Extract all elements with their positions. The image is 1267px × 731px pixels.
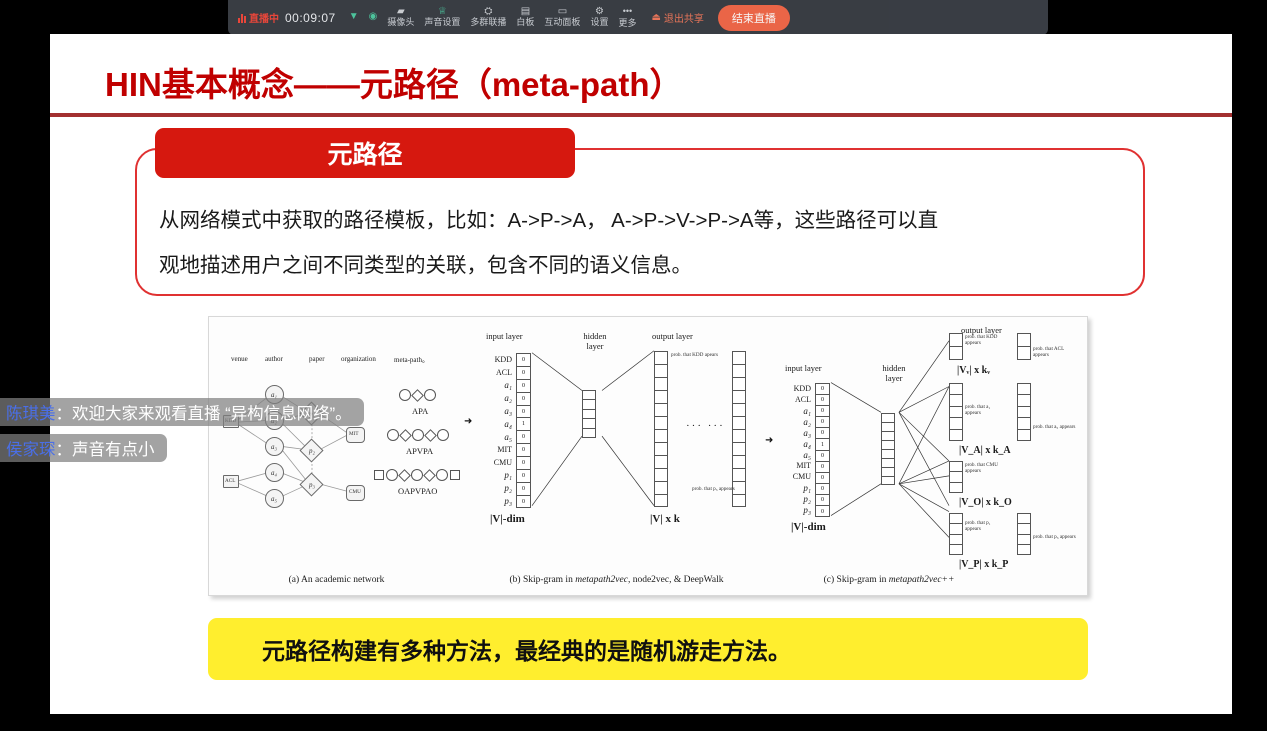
footer-highlight-text: 元路径构建有多种方法，最经典的是随机游走方法。 <box>262 632 791 666</box>
chat-message-2: 侯家琛：声音有点小 <box>0 434 167 462</box>
panel-b-row-label-active: a₄ <box>474 419 512 429</box>
panel-b-output-cell <box>655 365 667 378</box>
toolbar-item-whiteboard[interactable]: ▤ 白板 <box>511 6 539 28</box>
panel-c-input-cell: 0 <box>816 484 829 495</box>
panel-c-input-cell: 0 <box>816 417 829 428</box>
panel-b-caption-italic: metapath2vec <box>575 575 628 585</box>
panel-c-output-cell <box>1018 407 1030 418</box>
panel-a-metapath-oapvpao-label: OAPVPAO <box>398 486 437 496</box>
chat-separator: ： <box>56 436 73 460</box>
panel-c-dim-o: |V_O| x k_O <box>959 497 1012 508</box>
panel-b-hidden-vector <box>582 390 596 438</box>
panel-c-output-cell <box>1018 384 1030 395</box>
wifi-icon: ▼ <box>349 12 359 22</box>
panel-c-prob-p-right: prob. that p₃ appears <box>1033 535 1081 541</box>
panel-b-input-cell: 0 <box>517 393 530 406</box>
panel-b-input-cell: 0 <box>517 457 530 470</box>
panel-b-hidden-cell <box>583 429 595 438</box>
screen-root: 直播中 00:09:07 ▼ ◉ ▰ 摄像头 ♕ 声音设置 ⛭ 多群联播 ▤ 白… <box>0 0 1267 731</box>
panel-c-input-cell: 0 <box>816 406 829 417</box>
toolbar-item-shield[interactable]: ◉ <box>364 11 383 24</box>
panel-c-output-cell <box>1018 418 1030 429</box>
panel-c-caption: (c) Skip-gram in metapath2vec++ <box>729 575 1049 585</box>
panel-b-row-label: CMU <box>474 458 512 467</box>
panel-c-row-label: p₃ <box>773 505 811 515</box>
panel-b-row-label: p₁ <box>474 470 512 480</box>
panel-c-output-cell <box>1018 430 1030 441</box>
panel-c-output-cell <box>950 430 962 441</box>
figure-panel-a: venue author paper organization meta-pat… <box>209 317 464 595</box>
panel-b-hidden-cell <box>583 391 595 400</box>
panel-c-output-cell <box>950 334 962 347</box>
panel-c-row-label: ACL <box>773 395 811 404</box>
panel-c-input-vector: 0 0 0 0 0 1 0 0 0 0 0 0 <box>815 383 830 517</box>
panel-c-input-cell: 0 <box>816 451 829 462</box>
panel-c-row-label: p₁ <box>773 483 811 493</box>
panel-c-output-cell <box>950 545 962 555</box>
panel-c-dim-p: |V_P| x k_P <box>959 559 1008 570</box>
panel-b-output-cell <box>733 417 745 430</box>
panel-a-metapath-apa-label: APA <box>412 406 428 416</box>
panel-c-output-vector-a-right <box>1017 383 1031 441</box>
panel-b-row-label: p₃ <box>474 496 512 506</box>
panel-c-hidden-cell <box>882 432 894 441</box>
panel-c-output-cell <box>1018 545 1030 555</box>
figure-panel-b: input layer hidden layer output layer 0 … <box>464 317 769 595</box>
panel-c-row-label: a₃ <box>773 428 811 438</box>
chat-message-1: 陈琪美：欢迎大家来观看直播 “异构信息网络”。 <box>0 398 364 426</box>
toolbar-item-wifi[interactable]: ▼ <box>344 11 364 24</box>
toolbar-item-camera-label: 摄像头 <box>387 18 414 27</box>
chat-message-text: 欢迎大家来观看直播 “异构信息网络”。 <box>72 400 352 424</box>
panel-a-edges <box>209 317 464 595</box>
panel-b-output-cell <box>733 469 745 482</box>
panel-a-node-org-2-label: CMU <box>349 490 361 496</box>
panel-a-node-author-5-label: a₅ <box>271 495 277 503</box>
toolbar-item-multicast-label: 多群联播 <box>470 18 506 27</box>
panel-b-output-cell <box>655 430 667 443</box>
panel-c-row-label: a₁ <box>773 406 811 416</box>
definition-text: 从网络模式中获取的路径模板，比如：A->P->A， A->P->V->P->A等… <box>159 198 1134 288</box>
panel-b-input-cell-active: 1 <box>517 418 530 431</box>
toolbar-item-multicast[interactable]: ⛭ 多群联播 <box>465 6 511 28</box>
panel-b-output-cell <box>655 378 667 391</box>
metapath-shape-diamond <box>411 389 424 402</box>
toolbar-item-panel-label: 互动面板 <box>544 18 580 27</box>
panel-b-output-cell <box>733 443 745 456</box>
metapath-shape-diamond <box>399 429 412 442</box>
panel-c-caption-prefix: (c) Skip-gram in <box>824 575 889 585</box>
panel-b-input-cell: 0 <box>517 406 530 419</box>
panel-c-output-vector-v-right <box>1017 333 1031 360</box>
panel-b-output-cell <box>655 469 667 482</box>
chat-bubble: 侯家琛：声音有点小 <box>0 434 167 462</box>
panel-b-output-vector-1 <box>654 351 668 507</box>
panel-c-hidden-cell <box>882 468 894 477</box>
panel-c-dim-a: |V_A| x k_A <box>959 445 1011 456</box>
toolbar-item-settings[interactable]: ⚙ 设置 <box>585 6 613 28</box>
metapath-shape-diamond <box>423 469 436 482</box>
more-icon: ••• <box>623 6 632 16</box>
multicast-icon: ⛭ <box>484 7 492 17</box>
panel-c-prob-v-left: prob. that KDD appears <box>965 335 1013 347</box>
panel-c-output-cell <box>950 514 962 524</box>
panel-b-output-cell <box>655 404 667 417</box>
panel-b-output-cell <box>655 352 667 365</box>
metapath-shape-circle <box>436 469 448 481</box>
shield-icon: ◉ <box>369 12 378 22</box>
panel-c-caption-italic: metapath2vec++ <box>889 575 955 585</box>
panel-b-hidden-cell <box>583 419 595 428</box>
metapath-shape-circle <box>411 469 423 481</box>
live-timer: 00:09:07 <box>285 11 336 25</box>
panel-c-input-cell: 0 <box>816 473 829 484</box>
panel-b-prob-top-label: prob. that KDD apears <box>671 353 723 359</box>
metapath-shape-square <box>374 470 384 480</box>
panel-b-output-cell <box>655 391 667 404</box>
metapath-shape-circle <box>386 469 398 481</box>
panel-b-output-cell <box>655 417 667 430</box>
panel-b-input-cell: 0 <box>517 380 530 393</box>
panel-icon: ▭ <box>558 7 567 17</box>
panel-b-input-cell: 0 <box>517 354 530 367</box>
panel-c-output-cell <box>1018 347 1030 360</box>
panel-a-node-paper-3-label: p₃ <box>309 481 315 489</box>
gear-icon: ⚙ <box>595 7 604 17</box>
chat-sender-name: 陈琪美 <box>6 400 56 424</box>
panel-c-input-cell: 0 <box>816 395 829 406</box>
panel-b-input-dim-label: |V|-dim <box>490 513 525 525</box>
panel-c-prob-v-right: prob. that ACL appears <box>1033 347 1081 359</box>
section-badge: 元路径 <box>155 128 575 178</box>
panel-c-input-arrow-icon: ➜ <box>765 435 773 446</box>
panel-b-row-label: a₅ <box>474 432 512 442</box>
definition-line-2: 观地描述用户之间不同类型的关联，包含不同的语义信息。 <box>159 243 1134 288</box>
panel-c-input-cell: 0 <box>816 428 829 439</box>
figure-panel-c: input layer hidden layer output layer <box>769 317 1089 595</box>
panel-b-output-cell <box>733 404 745 417</box>
page-title: HIN基本概念——元路径（meta-path） <box>105 58 1105 106</box>
panel-c-row-label: p₂ <box>773 494 811 504</box>
panel-b-caption-prefix: (b) Skip-gram in <box>510 575 576 585</box>
panel-c-output-cell <box>950 407 962 418</box>
panel-c-row-label: CMU <box>773 472 811 481</box>
metapath-shape-circle <box>437 429 449 441</box>
footer-highlight-box: 元路径构建有多种方法，最经典的是随机游走方法。 <box>208 618 1088 680</box>
panel-c-output-vector-o <box>949 461 963 493</box>
metapath-shape-diamond <box>424 429 437 442</box>
panel-b-output-cell <box>655 456 667 469</box>
panel-c-output-cell <box>950 472 962 482</box>
panel-b-row-label: a₃ <box>474 406 512 416</box>
panel-c-input-cell: 0 <box>816 384 829 395</box>
toolbar-item-audio-label: 声音设置 <box>424 18 460 27</box>
panel-b-row-label: a₁ <box>474 380 512 390</box>
panel-b-input-vector: 0 0 0 0 0 1 0 0 0 0 0 0 <box>516 353 531 508</box>
live-status-indicator: 直播中 <box>238 10 279 25</box>
live-bars-icon <box>238 13 246 23</box>
panel-c-output-cell <box>950 535 962 545</box>
presentation-slide: HIN基本概念——元路径（meta-path） 从网络模式中获取的路径模板，比如… <box>50 34 1232 714</box>
whiteboard-icon: ▤ <box>521 7 530 17</box>
exit-share-icon: ⏏ <box>651 12 660 23</box>
panel-c-output-vector-p-left <box>949 513 963 555</box>
metapath-shape-circle <box>387 429 399 441</box>
panel-c-output-vector-v-left <box>949 333 963 360</box>
end-live-button[interactable]: 结束直播 <box>718 5 790 31</box>
panel-c-input-cell-active: 1 <box>816 439 829 450</box>
panel-b-ellipsis: ··· ··· <box>686 420 725 432</box>
panel-c-output-cell <box>950 483 962 493</box>
panel-c-prob-a-left: prob. that a₁ appears <box>965 405 1007 417</box>
panel-a-metapath-apa-shapes <box>399 389 436 401</box>
live-status-label: 直播中 <box>249 10 279 25</box>
panel-a-metapath-apvpa-label: APVPA <box>406 446 433 456</box>
panel-b-row-label: a₂ <box>474 393 512 403</box>
panel-b-output-cell <box>733 495 745 508</box>
panel-c-output-cell <box>950 395 962 406</box>
live-toolbar: 直播中 00:09:07 ▼ ◉ ▰ 摄像头 ♕ 声音设置 ⛭ 多群联播 ▤ 白… <box>228 0 1048 35</box>
toolbar-item-camera[interactable]: ▰ 摄像头 <box>382 6 419 28</box>
panel-c-output-cell <box>950 524 962 534</box>
panel-c-hidden-cell <box>882 441 894 450</box>
metapath2vec-figure: venue author paper organization meta-pat… <box>208 316 1088 596</box>
panel-b-caption: (b) Skip-gram in metapath2vec, node2vec,… <box>464 575 769 585</box>
toolbar-item-more[interactable]: ••• 更多 <box>613 5 641 30</box>
panel-b-input-cell: 0 <box>517 483 530 496</box>
exit-share-label: 退出共享 <box>664 10 704 25</box>
panel-c-output-cell <box>950 462 962 472</box>
panel-a-node-author-4-label: a₄ <box>271 469 277 477</box>
panel-b-output-cell <box>733 378 745 391</box>
panel-b-row-label: ACL <box>474 368 512 377</box>
panel-b-output-cell <box>655 482 667 495</box>
chat-sender-name: 侯家琛 <box>6 436 56 460</box>
panel-b-output-cell <box>655 495 667 508</box>
panel-c-output-cell <box>950 384 962 395</box>
panel-b-input-cell: 0 <box>517 470 530 483</box>
panel-c-output-cell <box>950 347 962 360</box>
panel-c-output-cell <box>1018 395 1030 406</box>
panel-b-output-cell <box>655 443 667 456</box>
toolbar-item-audio-settings[interactable]: ♕ 声音设置 <box>419 6 465 28</box>
title-divider <box>50 113 1232 117</box>
panel-c-prob-p-left: prob. that p₁ appears <box>965 521 1007 533</box>
panel-b-output-vector-2 <box>732 351 746 507</box>
panel-b-row-label: p₂ <box>474 483 512 493</box>
panel-b-input-cell: 0 <box>517 496 530 509</box>
panel-a-metapath-oapvpao-shapes <box>374 469 460 481</box>
toolbar-item-whiteboard-label: 白板 <box>516 18 534 27</box>
panel-c-dim-v: |Vᵥ| x kᵥ <box>957 365 990 376</box>
panel-c-output-cell <box>1018 514 1030 524</box>
metapath-shape-square <box>450 470 460 480</box>
panel-c-row-label: KDD <box>773 384 811 393</box>
panel-c-row-label-active: a₄ <box>773 439 811 449</box>
chat-separator: ： <box>56 400 73 424</box>
panel-c-hidden-cell <box>882 423 894 432</box>
panel-c-input-dim-label: |V|-dim <box>791 521 826 533</box>
panel-a-node-paper-2-label: p₂ <box>309 447 315 455</box>
panel-b-row-label: MIT <box>474 445 512 454</box>
panel-b-caption-suffix: , node2vec, & DeepWalk <box>628 575 724 585</box>
panel-b-output-dim-label: |V| x k <box>650 513 680 525</box>
metapath-shape-circle <box>424 389 436 401</box>
metapath-shape-circle <box>412 429 424 441</box>
definition-line-1: 从网络模式中获取的路径模板，比如：A->P->A， A->P->V->P->A等… <box>159 198 1134 243</box>
panel-a-caption: (a) An academic network <box>209 575 464 585</box>
panel-c-input-cell: 0 <box>816 506 829 517</box>
chat-message-text: 声音有点小 <box>72 436 155 460</box>
panel-b-input-cell: 0 <box>517 444 530 457</box>
panel-c-output-vector-p-right <box>1017 513 1031 555</box>
panel-b-hidden-cell <box>583 410 595 419</box>
panel-c-prob-a-right: prob. that a₅ appears <box>1033 425 1077 431</box>
panel-b-output-cell <box>733 430 745 443</box>
panel-b-output-cell <box>733 352 745 365</box>
panel-c-input-cell: 0 <box>816 462 829 473</box>
panel-a-node-author-3-label: a₃ <box>271 443 277 451</box>
panel-c-output-cell <box>1018 524 1030 534</box>
panel-b-output-cell <box>733 456 745 469</box>
panel-c-row-label: MIT <box>773 461 811 470</box>
panel-b-output-cell <box>733 365 745 378</box>
audio-icon: ♕ <box>438 7 447 17</box>
metapath-shape-circle <box>399 389 411 401</box>
panel-b-input-cell: 0 <box>517 431 530 444</box>
camera-icon: ▰ <box>397 7 405 17</box>
panel-c-hidden-cell <box>882 477 894 486</box>
panel-a-node-org-1-label: MIT <box>349 432 359 438</box>
exit-share-button[interactable]: ⏏ 退出共享 <box>645 8 709 27</box>
panel-c-prob-o-left: prob. that CMU appears <box>965 463 1013 475</box>
panel-c-input-cell: 0 <box>816 495 829 506</box>
panel-b-input-arrow-icon: ➜ <box>464 416 472 427</box>
panel-c-hidden-vector <box>881 413 895 485</box>
panel-c-hidden-cell <box>882 459 894 468</box>
panel-b-row-label: KDD <box>474 355 512 364</box>
panel-c-output-cell <box>950 418 962 429</box>
metapath-shape-diamond <box>398 469 411 482</box>
panel-c-output-cell <box>1018 535 1030 545</box>
panel-b-output-cell <box>733 391 745 404</box>
panel-c-output-vector-a-left <box>949 383 963 441</box>
panel-c-row-label: a₅ <box>773 450 811 460</box>
chat-bubble: 陈琪美：欢迎大家来观看直播 “异构信息网络”。 <box>0 398 364 426</box>
panel-a-node-venue-2-label: ACL <box>225 479 235 485</box>
toolbar-item-settings-label: 设置 <box>590 18 608 27</box>
toolbar-item-more-label: 更多 <box>618 16 636 29</box>
panel-c-hidden-cell <box>882 414 894 423</box>
panel-c-hidden-cell <box>882 450 894 459</box>
panel-b-input-cell: 0 <box>517 367 530 380</box>
panel-c-output-cell <box>1018 334 1030 347</box>
panel-b-hidden-cell <box>583 400 595 409</box>
panel-c-row-label: a₂ <box>773 417 811 427</box>
panel-a-metapath-apvpa-shapes <box>387 429 449 441</box>
panel-b-prob-bottom-label: prob. that p₃ appears <box>692 487 736 493</box>
toolbar-item-interactive-panel[interactable]: ▭ 互动面板 <box>539 6 585 28</box>
